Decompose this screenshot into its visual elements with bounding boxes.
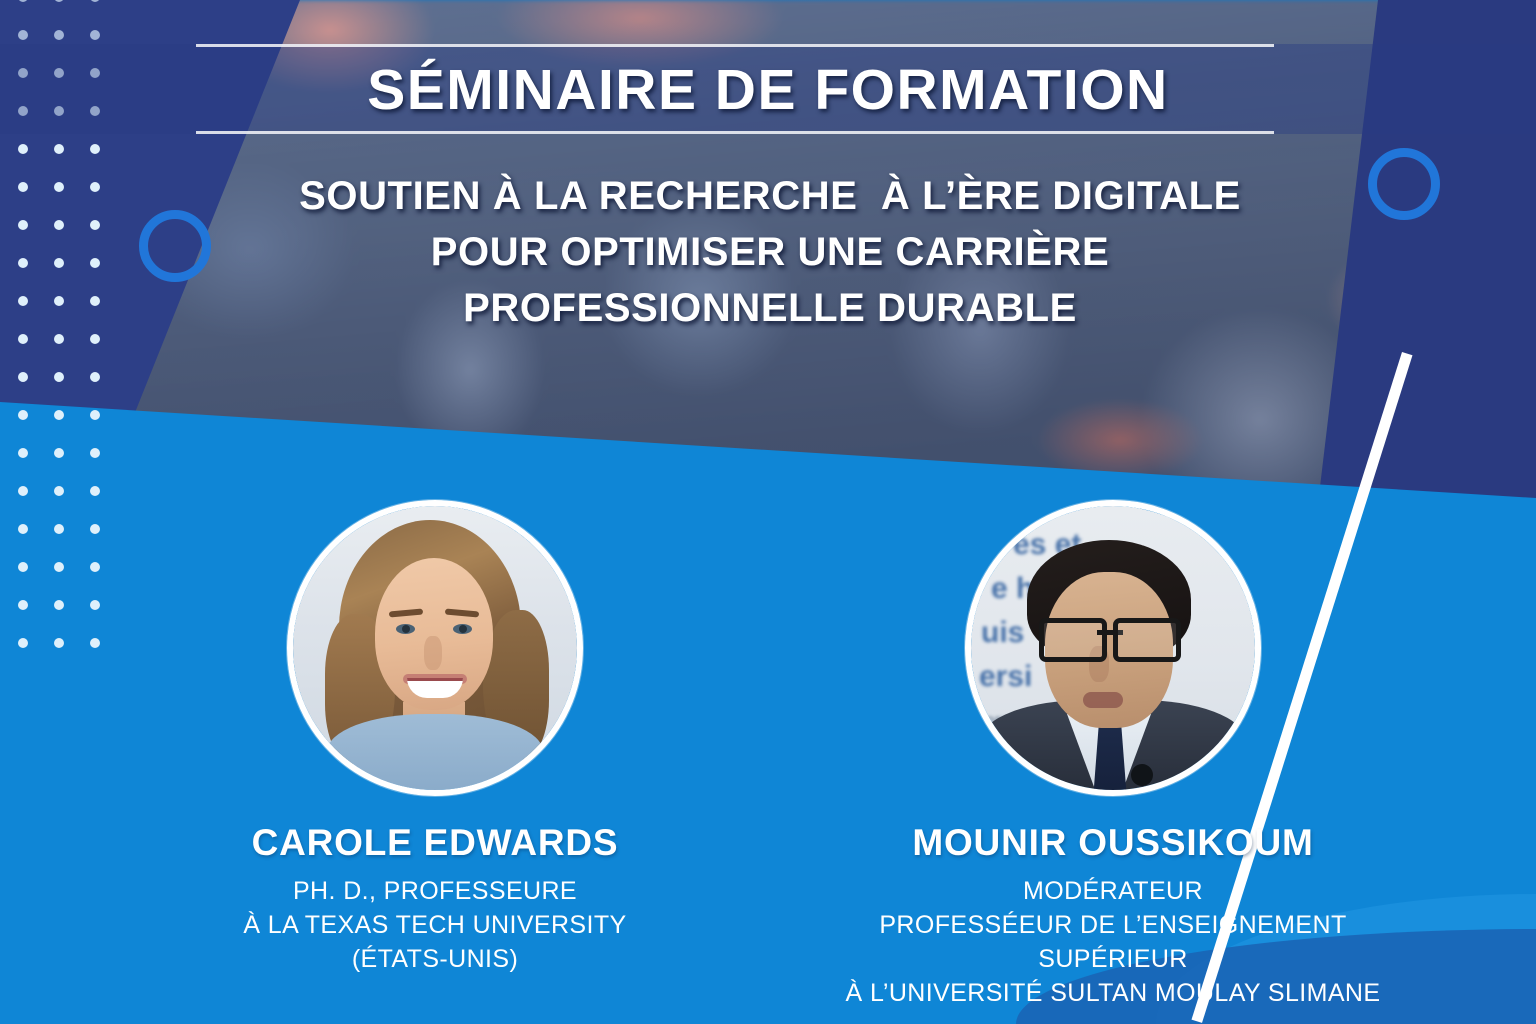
subtitle-line-3: PROFESSIONNELLE DURABLE — [150, 280, 1390, 336]
seminar-poster: SÉMINAIRE DE FORMATION SOUTIEN À LA RECH… — [0, 0, 1536, 1024]
dot — [54, 220, 64, 230]
dot — [54, 638, 64, 648]
dot — [90, 0, 100, 2]
dot — [18, 638, 28, 648]
portrait-man: es et e h uis ersi ora sab — [971, 506, 1255, 790]
dot — [54, 258, 64, 268]
dot — [54, 486, 64, 496]
dot — [54, 600, 64, 610]
dot — [54, 410, 64, 420]
speaker-role-left-line-3: (ÉTATS-UNIS) — [185, 942, 685, 976]
dot — [54, 372, 64, 382]
page-subtitle: SOUTIEN À LA RECHERCHE À L’ÈRE DIGITALE … — [150, 168, 1390, 336]
speaker-name-left: CAROLE EDWARDS — [185, 822, 685, 864]
dot — [18, 524, 28, 534]
speaker-role-left-line-1: PH. D., PROFESSEURE — [185, 874, 685, 908]
page-title: SÉMINAIRE DE FORMATION — [0, 46, 1536, 134]
speaker-role-right-line-2: PROFESSÉEUR DE L’ENSEIGNEMENT SUPÉRIEUR — [830, 908, 1396, 976]
subtitle-line-1: SOUTIEN À LA RECHERCHE À L’ÈRE DIGITALE — [150, 168, 1390, 224]
dot — [18, 410, 28, 420]
speaker-role-right-line-1: MODÉRATEUR — [830, 874, 1396, 908]
dot — [54, 144, 64, 154]
dot — [90, 410, 100, 420]
avatar-mounir-oussikoum: es et e h uis ersi ora sab — [965, 500, 1261, 796]
dot — [90, 486, 100, 496]
dot — [18, 144, 28, 154]
dot — [18, 258, 28, 268]
dot — [54, 296, 64, 306]
speaker-card-right: es et e h uis ersi ora sab — [830, 500, 1396, 1010]
dot — [90, 296, 100, 306]
dot — [90, 372, 100, 382]
dot — [18, 220, 28, 230]
dot — [18, 448, 28, 458]
dot — [54, 0, 64, 2]
dot — [90, 448, 100, 458]
dot — [90, 334, 100, 344]
dot — [90, 600, 100, 610]
dot — [18, 334, 28, 344]
dot — [54, 524, 64, 534]
dot — [90, 30, 100, 40]
dot — [90, 258, 100, 268]
speaker-role-right-line-3: À L’UNIVERSITÉ SULTAN MOULAY SLIMANE — [830, 976, 1396, 1010]
speaker-role-left: PH. D., PROFESSEURE À LA TEXAS TECH UNIV… — [185, 874, 685, 976]
dot — [90, 562, 100, 572]
speaker-role-left-line-2: À LA TEXAS TECH UNIVERSITY — [185, 908, 685, 942]
dot — [18, 600, 28, 610]
avatar-carole-edwards — [287, 500, 583, 796]
dot — [90, 524, 100, 534]
speaker-card-left: CAROLE EDWARDS PH. D., PROFESSEURE À LA … — [185, 500, 685, 976]
dot — [18, 372, 28, 382]
eyeglasses-icon — [1039, 618, 1181, 652]
subtitle-line-2: POUR OPTIMISER UNE CARRIÈRE — [150, 224, 1390, 280]
dot — [18, 486, 28, 496]
speaker-role-right: MODÉRATEUR PROFESSÉEUR DE L’ENSEIGNEMENT… — [830, 874, 1396, 1010]
dot — [18, 182, 28, 192]
dot — [18, 562, 28, 572]
dot — [18, 30, 28, 40]
dot — [54, 562, 64, 572]
dot — [18, 296, 28, 306]
dot — [54, 334, 64, 344]
dot — [18, 0, 28, 2]
dot — [90, 144, 100, 154]
dot — [54, 448, 64, 458]
dot — [90, 638, 100, 648]
dot — [54, 182, 64, 192]
dot — [54, 30, 64, 40]
speaker-name-right: MOUNIR OUSSIKOUM — [830, 822, 1396, 864]
dot — [90, 182, 100, 192]
dot — [90, 220, 100, 230]
portrait-woman — [293, 506, 577, 790]
microphone-icon — [1131, 764, 1153, 786]
